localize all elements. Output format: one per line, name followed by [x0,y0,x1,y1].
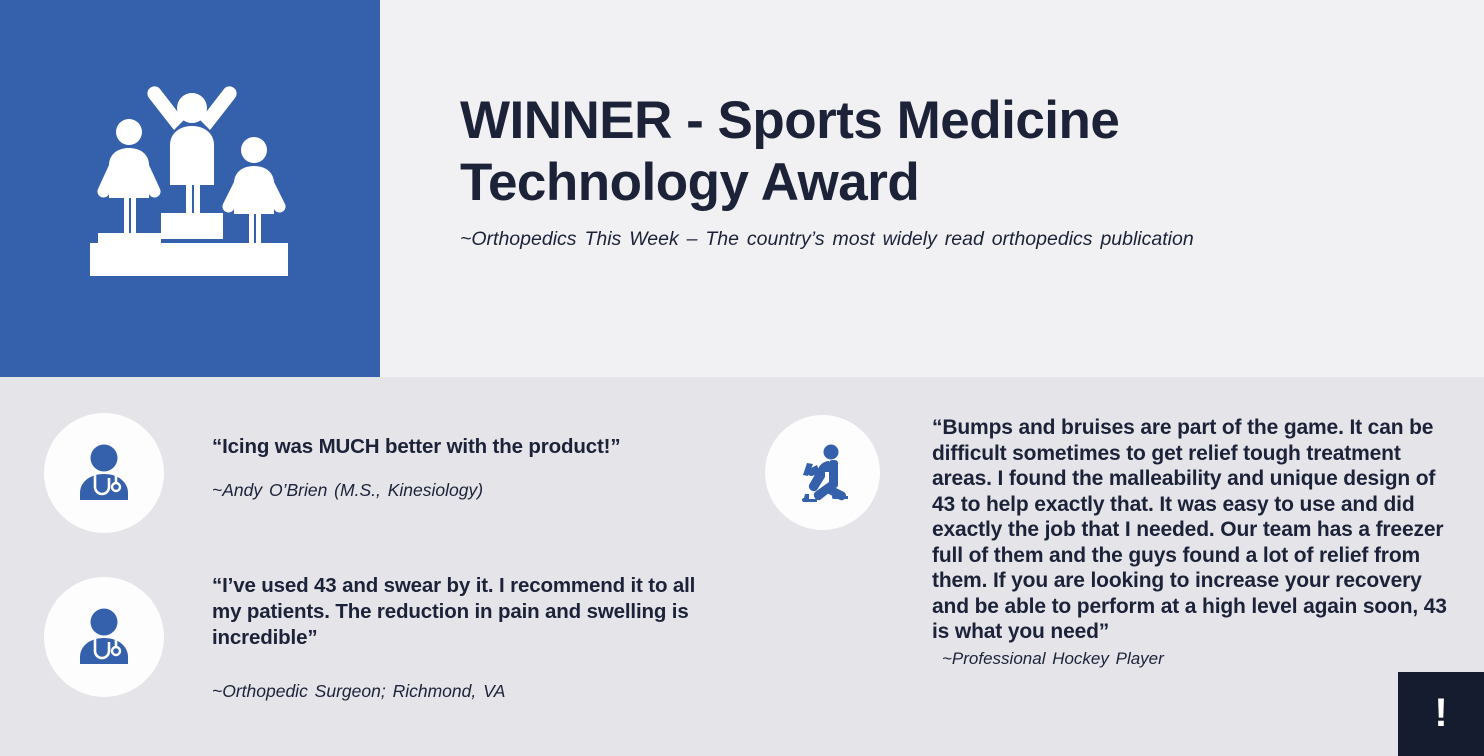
exclamation-mark-icon: ! [1434,693,1447,733]
winners-podium-icon [82,82,302,282]
testimonial-quote: “Icing was MUCH better with the product!… [212,434,702,460]
slide-canvas: WINNER - Sports Medicine Technology Awar… [0,0,1484,756]
testimonial-quote: “Bumps and bruises are part of the game.… [932,415,1452,645]
award-section: WINNER - Sports Medicine Technology Awar… [0,0,1484,377]
testimonial-attribution: ~Professional Hockey Player [942,647,1452,671]
avatar [44,577,164,697]
avatar [765,415,880,530]
award-title: WINNER - Sports Medicine Technology Awar… [460,90,1420,214]
testimonial: “Icing was MUCH better with the product!… [212,434,702,502]
testimonial: “Bumps and bruises are part of the game.… [932,415,1452,671]
testimonial-attribution: ~Andy O’Brien (M.S., Kinesiology) [212,478,702,502]
hockey-player-icon [791,442,855,504]
award-source-citation: ~Orthopedics This Week – The country’s m… [460,226,1420,252]
testimonial: “I’ve used 43 and swear by it. I recomme… [212,573,702,703]
doctor-icon [71,608,137,666]
avatar [44,413,164,533]
award-icon-panel [0,0,380,377]
testimonial-quote: “I’ve used 43 and swear by it. I recomme… [212,573,702,651]
doctor-icon [71,444,137,502]
corner-logo-mark: ! [1398,672,1484,756]
testimonial-attribution: ~Orthopedic Surgeon; Richmond, VA [212,679,702,703]
